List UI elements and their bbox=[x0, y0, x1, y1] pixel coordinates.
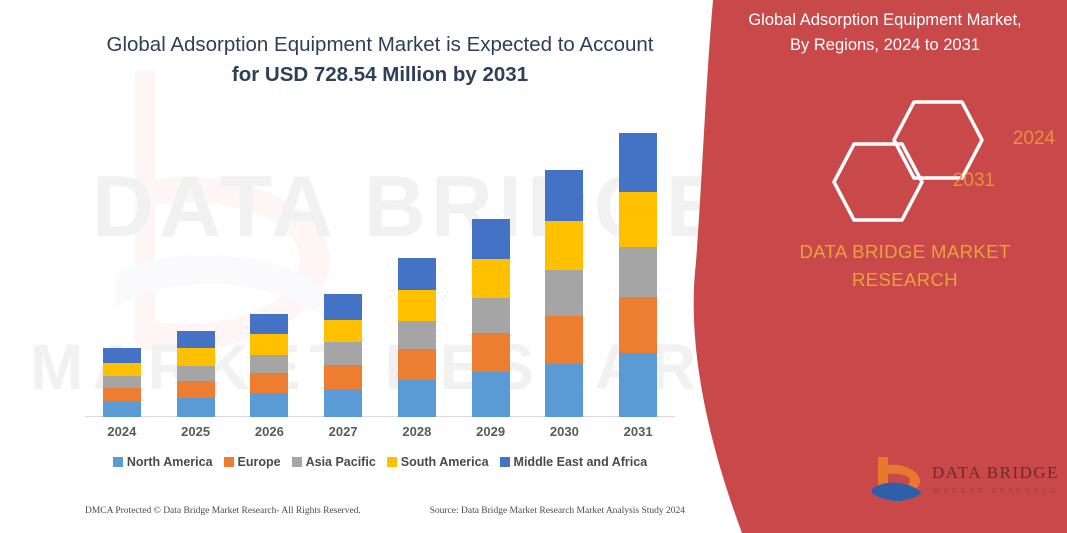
data-bridge-mark-icon bbox=[870, 455, 930, 507]
hexagon-2031-label: 2031 bbox=[926, 170, 1022, 192]
bar-segment bbox=[177, 331, 215, 348]
hexagon-badge-2031: 2031 bbox=[830, 140, 926, 224]
bar-segment bbox=[619, 133, 657, 192]
bar-segment bbox=[619, 247, 657, 297]
bar-segment bbox=[103, 402, 141, 417]
right-title-line-2: By Regions, 2024 to 2031 bbox=[720, 33, 1050, 58]
bar-segment bbox=[472, 298, 510, 333]
bar-segment bbox=[250, 373, 288, 393]
x-tick-2028: 2028 bbox=[387, 424, 447, 439]
page-title-line-2: for USD 728.54 Million by 2031 bbox=[60, 60, 700, 90]
bar-segment bbox=[398, 380, 436, 417]
bar-segment bbox=[103, 348, 141, 362]
bar-segment bbox=[545, 316, 583, 364]
legend-item[interactable]: Europe bbox=[224, 455, 281, 469]
logo-text-main: DATA BRIDGE bbox=[932, 463, 1059, 483]
bar-segment bbox=[398, 290, 436, 321]
bar-segment bbox=[545, 364, 583, 417]
bar-segment bbox=[250, 393, 288, 417]
bar-column-2030 bbox=[545, 170, 583, 417]
legend-item[interactable]: North America bbox=[113, 455, 213, 469]
x-axis-line bbox=[85, 416, 675, 417]
footer-source: Source: Data Bridge Market Research Mark… bbox=[430, 506, 685, 516]
x-tick-2024: 2024 bbox=[92, 424, 152, 439]
page-title-line-1: Global Adsorption Equipment Market is Ex… bbox=[60, 30, 700, 60]
bar-segment bbox=[472, 372, 510, 417]
bar-segment bbox=[472, 259, 510, 298]
bar-segment bbox=[545, 270, 583, 316]
bar-segment bbox=[324, 389, 362, 417]
legend-item[interactable]: Middle East and Africa bbox=[500, 455, 648, 469]
logo-text-sub: MARKET RESEARCH bbox=[933, 486, 1060, 495]
bar-segment bbox=[545, 221, 583, 270]
legend-label: Asia Pacific bbox=[306, 455, 376, 469]
infographic-root: DATA BRIDGE MARKET RESEARCH Global Adsor… bbox=[0, 0, 1067, 533]
bar-segment bbox=[177, 348, 215, 365]
legend-label: South America bbox=[401, 455, 489, 469]
legend-swatch-icon bbox=[292, 457, 302, 467]
bar-column-2025 bbox=[177, 331, 215, 417]
bar-segment bbox=[250, 314, 288, 334]
x-tick-2030: 2030 bbox=[534, 424, 594, 439]
chart-panel: DATA BRIDGE MARKET RESEARCH Global Adsor… bbox=[0, 0, 760, 533]
bar-column-2028 bbox=[398, 258, 436, 417]
x-tick-2025: 2025 bbox=[166, 424, 226, 439]
bar-column-2029 bbox=[472, 219, 510, 417]
bar-segment bbox=[398, 349, 436, 380]
legend-item[interactable]: South America bbox=[387, 455, 489, 469]
hexagon-2024-label: 2024 bbox=[986, 128, 1067, 150]
bar-segment bbox=[103, 388, 141, 401]
bar-column-2026 bbox=[250, 314, 288, 417]
bar-segment bbox=[398, 258, 436, 290]
bar-segment bbox=[177, 366, 215, 381]
bar-segment bbox=[619, 297, 657, 352]
brand-name-line-1: DATA BRIDGE MARKET bbox=[765, 238, 1045, 266]
hexagon-outline-icon bbox=[830, 140, 926, 224]
legend-label: Europe bbox=[238, 455, 281, 469]
legend-item[interactable]: Asia Pacific bbox=[292, 455, 376, 469]
bar-column-2031 bbox=[619, 133, 657, 417]
bar-segment bbox=[619, 353, 657, 417]
page-title: Global Adsorption Equipment Market is Ex… bbox=[60, 30, 700, 90]
footer: DMCA Protected © Data Bridge Market Rese… bbox=[85, 506, 685, 516]
bar-segment bbox=[545, 170, 583, 220]
bar-segment bbox=[472, 333, 510, 372]
legend-label: North America bbox=[127, 455, 213, 469]
right-panel-content: Global Adsorption Equipment Market, By R… bbox=[745, 0, 1067, 533]
bar-segment bbox=[103, 363, 141, 376]
right-title-line-1: Global Adsorption Equipment Market, bbox=[720, 8, 1050, 33]
bar-segment bbox=[177, 381, 215, 397]
bar-segment bbox=[250, 355, 288, 373]
bar-segment bbox=[324, 365, 362, 390]
x-axis-tick-labels: 20242025202620272028202920302031 bbox=[85, 424, 675, 444]
footer-copyright: DMCA Protected © Data Bridge Market Rese… bbox=[85, 506, 361, 516]
stacked-bar-chart bbox=[85, 110, 675, 417]
legend-swatch-icon bbox=[224, 457, 234, 467]
brand-name: DATA BRIDGE MARKET RESEARCH bbox=[765, 238, 1045, 294]
bar-segment bbox=[103, 376, 141, 388]
bar-column-2024 bbox=[103, 348, 141, 417]
legend-label: Middle East and Africa bbox=[514, 455, 648, 469]
x-tick-2027: 2027 bbox=[313, 424, 373, 439]
bar-segment bbox=[324, 320, 362, 343]
legend-swatch-icon bbox=[387, 457, 397, 467]
legend-swatch-icon bbox=[500, 457, 510, 467]
data-bridge-logo: DATA BRIDGE MARKET RESEARCH bbox=[870, 455, 1060, 511]
x-tick-2029: 2029 bbox=[461, 424, 521, 439]
right-panel-title: Global Adsorption Equipment Market, By R… bbox=[720, 8, 1050, 58]
bar-segment bbox=[472, 219, 510, 260]
bar-segment bbox=[177, 398, 215, 417]
bar-segment bbox=[324, 294, 362, 320]
legend-swatch-icon bbox=[113, 457, 123, 467]
bar-column-2027 bbox=[324, 294, 362, 417]
x-tick-2031: 2031 bbox=[608, 424, 668, 439]
chart-legend: North AmericaEuropeAsia PacificSouth Ame… bbox=[85, 455, 675, 469]
bar-segment bbox=[619, 192, 657, 247]
bar-segment bbox=[250, 334, 288, 354]
bar-segment bbox=[324, 342, 362, 365]
bar-segment bbox=[398, 321, 436, 350]
brand-name-line-2: RESEARCH bbox=[765, 266, 1045, 294]
x-tick-2026: 2026 bbox=[239, 424, 299, 439]
